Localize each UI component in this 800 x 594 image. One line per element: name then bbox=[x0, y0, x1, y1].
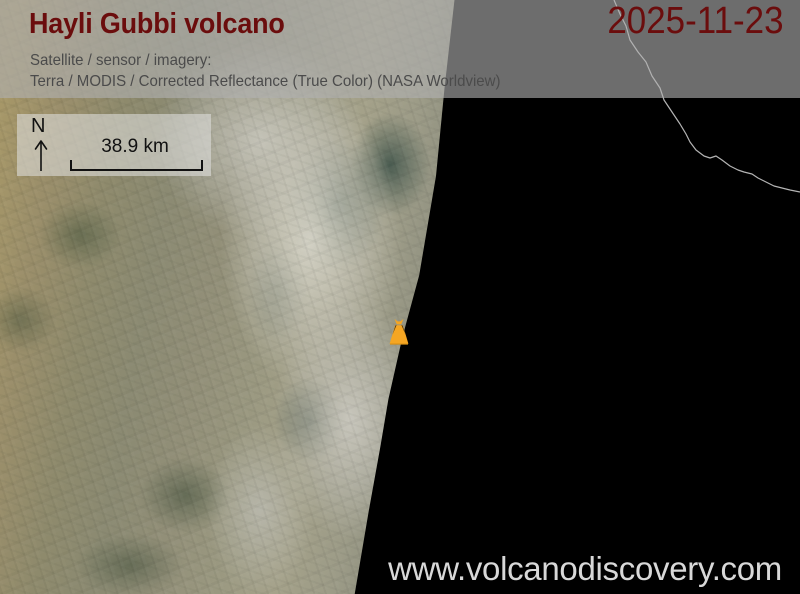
scale-panel: N 38.9 km bbox=[17, 114, 211, 176]
volcano-marker-icon[interactable] bbox=[388, 316, 410, 346]
satellite-info-value: Terra / MODIS / Corrected Reflectance (T… bbox=[30, 71, 501, 92]
site-watermark: www.volcanodiscovery.com bbox=[388, 550, 782, 588]
satellite-info-label: Satellite / sensor / imagery: bbox=[30, 50, 501, 71]
volcano-satellite-image-card: Hayli Gubbi volcano 2025-11-23 Satellite… bbox=[0, 0, 800, 594]
arrow-up-icon bbox=[34, 138, 48, 172]
scale-bar bbox=[70, 160, 203, 171]
image-date: 2025-11-23 bbox=[608, 0, 784, 43]
satellite-info-block: Satellite / sensor / imagery: Terra / MO… bbox=[30, 50, 501, 92]
north-label: N bbox=[31, 115, 45, 138]
scale-distance-label: 38.9 km bbox=[75, 136, 195, 158]
page-title: Hayli Gubbi volcano bbox=[29, 8, 285, 41]
